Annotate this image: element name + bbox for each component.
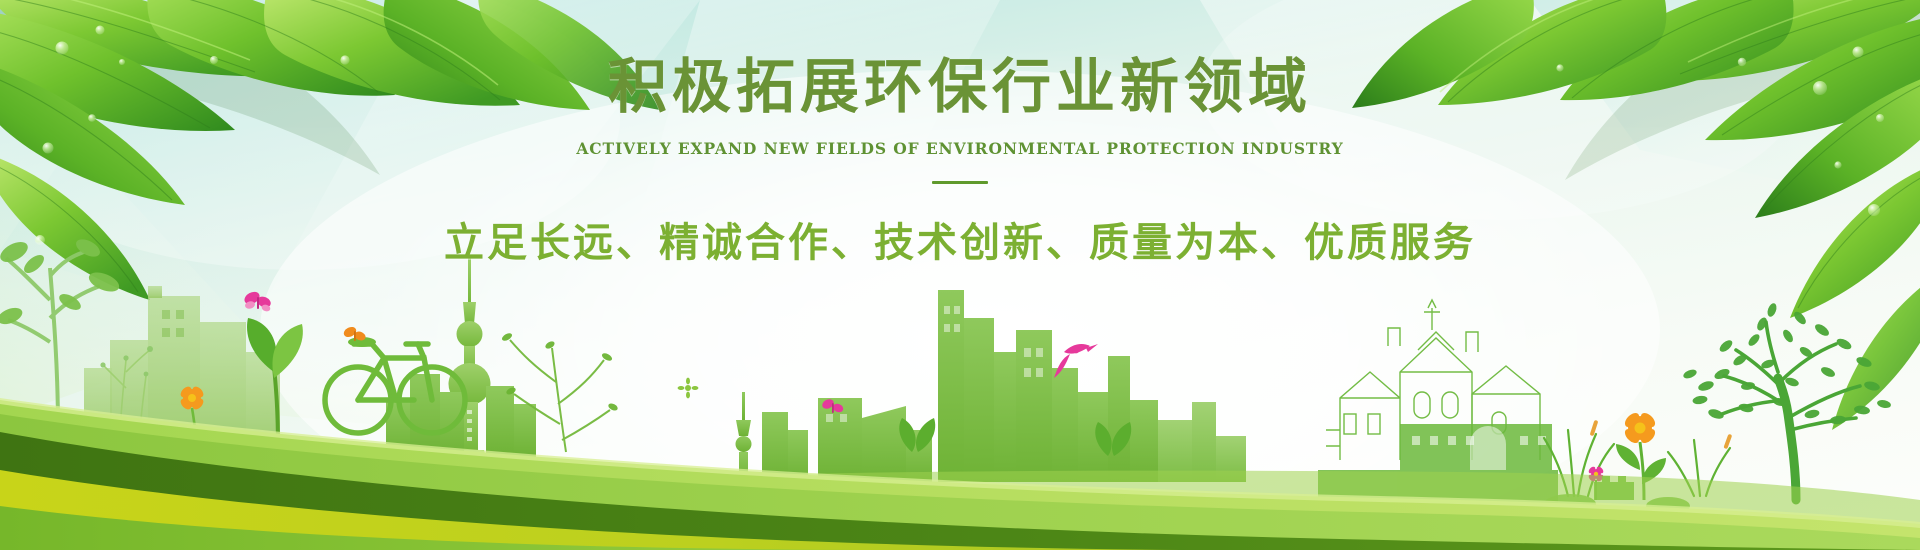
environmental-banner: 积极拓展环保行业新领域 ACTIVELY EXPAND NEW FIELDS O…: [0, 0, 1920, 550]
tagline: 立足长远、精诚合作、技术创新、质量为本、优质服务: [0, 210, 1920, 268]
banner-text-block: 积极拓展环保行业新领域 ACTIVELY EXPAND NEW FIELDS O…: [0, 52, 1920, 268]
page-title: 积极拓展环保行业新领域: [0, 52, 1920, 122]
divider: [932, 181, 988, 184]
subtitle-english: ACTIVELY EXPAND NEW FIELDS OF ENVIRONMEN…: [0, 139, 1920, 158]
